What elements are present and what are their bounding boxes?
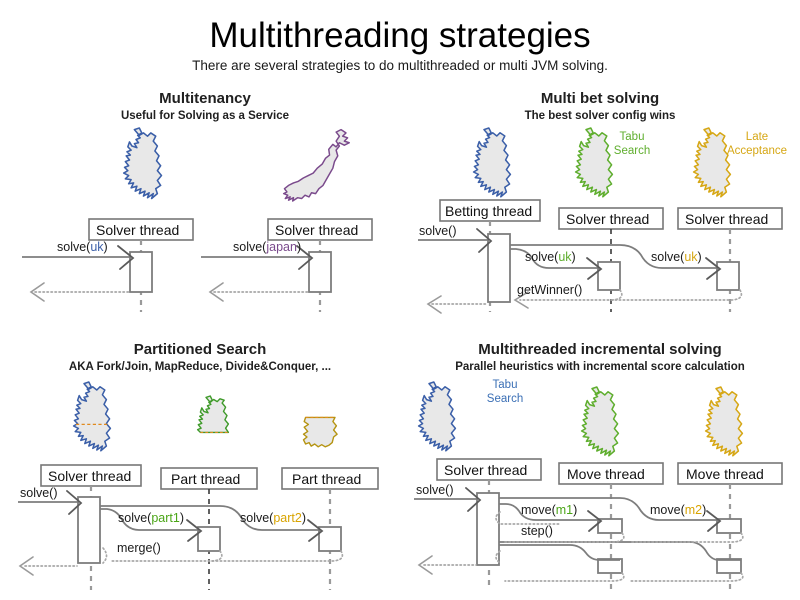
- uk-map-q4-green: [582, 387, 619, 456]
- q3-msg-1-arg: part1: [151, 511, 180, 525]
- q1-msg-label-1: solve(uk): [57, 240, 108, 254]
- q4-msg-2-arg: m2: [685, 503, 702, 517]
- q2-map-tag-late: LateAcceptance: [712, 130, 800, 158]
- q1-msg-label-2: solve(japan): [233, 240, 301, 254]
- q1-msg-1-arg: uk: [90, 240, 103, 254]
- q1-lifeline-label-1: Solver thread: [96, 222, 179, 238]
- q2-return-arrowhead-1: [428, 296, 441, 313]
- q3-return-2: [212, 551, 222, 561]
- q4-diagram: [414, 382, 782, 592]
- q2-msg-label-solve: solve(): [419, 224, 457, 238]
- q1-return-arrowhead-2: [210, 283, 223, 301]
- q4-return-m2b: [630, 573, 743, 581]
- q4-map-tag-tabu: TabuSearch: [470, 378, 540, 406]
- uk-map-q3-partitioned: [74, 382, 111, 451]
- q2-activation-2: [598, 262, 620, 290]
- q2-msg-2-arg: uk: [684, 250, 697, 264]
- q3-lifeline-label-3: Part thread: [292, 471, 361, 487]
- q4-msg-2-fn: move(: [650, 503, 685, 517]
- q3-merge-self: [103, 548, 107, 563]
- q1-msg-1-fn: solve(: [57, 240, 90, 254]
- slide-canvas: Multithreading strategies There are seve…: [0, 0, 800, 600]
- q4-lifeline-label-1: Solver thread: [444, 462, 527, 478]
- q3-msg-2-fn: solve(: [240, 511, 273, 525]
- q2-msg-label-1: solve(uk): [525, 250, 576, 264]
- q1-msg-2-fn: solve(: [233, 240, 266, 254]
- q4-msg-label-solve: solve(): [416, 483, 454, 497]
- q4-msg-1-fn: move(: [521, 503, 556, 517]
- q3-activation-1: [78, 497, 100, 563]
- q2-msg-1-arg: uk: [558, 250, 571, 264]
- q1-lifeline-label-2: Solver thread: [275, 222, 358, 238]
- q1-diagram: [22, 128, 372, 312]
- uk-map-q3-south: [304, 417, 338, 446]
- q4-lifeline-label-2: Move thread: [567, 466, 645, 482]
- uk-map-q4-gold: [706, 387, 743, 456]
- q2-msg-label-2: solve(uk): [651, 250, 702, 264]
- q3-msg-label-solve: solve(): [20, 486, 58, 500]
- q3-msg-2-close: ): [302, 511, 306, 525]
- q2-lifeline-label-2: Solver thread: [566, 211, 649, 227]
- q2-return-2: [612, 290, 622, 300]
- q2-msg-label-getwinner: getWinner(): [517, 283, 582, 297]
- q4-msg-2-close: ): [702, 503, 706, 517]
- q3-msg-1-close: ): [180, 511, 184, 525]
- q3-msg-2-arg: part2: [273, 511, 302, 525]
- japan-map-q1: [284, 130, 350, 201]
- q4-activation-2b: [598, 559, 622, 573]
- q3-lifeline-label-2: Part thread: [171, 471, 240, 487]
- q2-lifeline-label-1: Betting thread: [445, 203, 532, 219]
- q4-msg-1-arg: m1: [556, 503, 573, 517]
- uk-map-q3-north: [198, 396, 229, 432]
- uk-map-q1: [124, 128, 162, 199]
- q4-msg-label-step: step(): [521, 524, 553, 538]
- q4-return-m1b: [505, 573, 624, 581]
- q4-msg-1-close: ): [573, 503, 577, 517]
- q2-activation-1: [488, 234, 510, 302]
- q4-msg-label-2: move(m2): [650, 503, 706, 517]
- q3-msg-1-fn: solve(: [118, 511, 151, 525]
- q3-lifeline-label-1: Solver thread: [48, 468, 131, 484]
- q2-msg-1-close: ): [572, 250, 576, 264]
- q2-msg-1-fn: solve(: [525, 250, 558, 264]
- q2-lifeline-label-3: Solver thread: [685, 211, 768, 227]
- q3-msg-label-1: solve(part1): [118, 511, 184, 525]
- uk-map-q2-blue: [474, 128, 511, 197]
- q1-msg-2-close: ): [297, 240, 301, 254]
- q1-msg-2-arg: japan: [266, 240, 297, 254]
- q4-msg-round2-1: [499, 545, 620, 560]
- q1-return-arrowhead-1: [31, 283, 44, 301]
- q1-msg-1-close: ): [104, 240, 108, 254]
- q3-msg-label-2: solve(part2): [240, 511, 306, 525]
- q2-msg-2-fn: solve(: [651, 250, 684, 264]
- uk-map-q4-blue: [419, 382, 456, 451]
- q2-activation-3: [717, 262, 739, 290]
- q4-return-m2: [630, 533, 743, 542]
- q4-msg-label-1: move(m1): [521, 503, 577, 517]
- q2-map-tag-tabu: TabuSearch: [597, 130, 667, 158]
- q3-msg-label-merge: merge(): [117, 541, 161, 555]
- q2-msg-2-close: ): [698, 250, 702, 264]
- q4-activation-1: [477, 493, 499, 565]
- q4-activation-3b: [717, 559, 741, 573]
- q4-lifeline-label-3: Move thread: [686, 466, 764, 482]
